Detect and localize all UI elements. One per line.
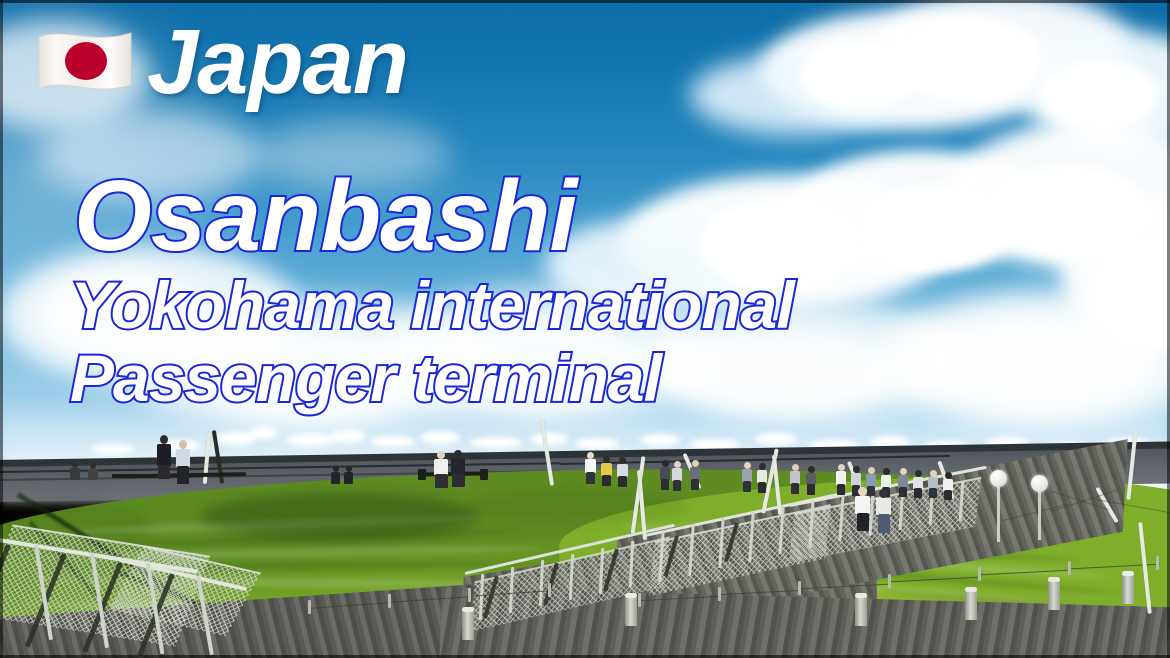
frame-edge-left: [0, 0, 3, 658]
frame-edge-top: [0, 0, 1170, 3]
page-title: Osanbashi: [74, 166, 576, 266]
subtitle-line-1: Yokohama international: [70, 272, 794, 338]
country-label: Japan: [147, 16, 408, 108]
japan-flag-icon: [33, 25, 137, 99]
subtitle-line-2: Passenger terminal: [70, 345, 661, 411]
country-row: Japan: [33, 16, 408, 108]
title-overlay: Japan Osanbashi Yokohama international P…: [0, 0, 1170, 430]
video-thumbnail: Japan Osanbashi Yokohama international P…: [0, 0, 1170, 658]
lamp-globe-icon: [1031, 475, 1048, 492]
lamp-globe-icon: [990, 470, 1007, 487]
